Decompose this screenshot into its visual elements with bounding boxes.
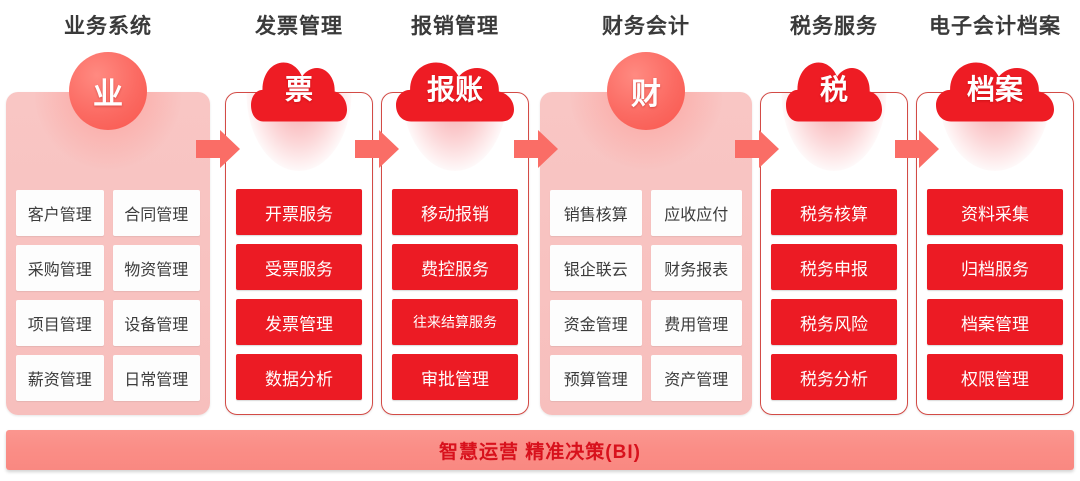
cell-row: 采购管理物资管理 bbox=[16, 245, 200, 291]
cell-row: 权限管理 bbox=[927, 354, 1063, 400]
module-cell[interactable]: 销售核算 bbox=[550, 190, 642, 236]
arrow-tax-to-archive-icon bbox=[895, 129, 939, 169]
arrow-reimburse-to-accounting-icon bbox=[514, 129, 558, 169]
module-cell[interactable]: 资金管理 bbox=[550, 300, 642, 346]
panel-3[interactable]: 移动报销费控服务往来结算服务审批管理 bbox=[381, 92, 529, 415]
module-cell[interactable]: 审批管理 bbox=[392, 354, 518, 400]
module-cell[interactable]: 合同管理 bbox=[113, 190, 201, 236]
bottom-banner-text: 智慧运营 精准决策(BI) bbox=[439, 437, 641, 464]
panel-1[interactable]: 客户管理合同管理采购管理物资管理项目管理设备管理薪资管理日常管理 bbox=[6, 92, 210, 415]
module-cell[interactable]: 开票服务 bbox=[236, 189, 362, 235]
column-title-5: 税务服务 bbox=[760, 10, 908, 40]
module-cell[interactable]: 财务报表 bbox=[651, 245, 743, 291]
column-title-4: 财务会计 bbox=[540, 10, 752, 40]
column-badge-circle-icon: 业 bbox=[69, 52, 147, 130]
column-badge-cloud-icon: 报账 bbox=[396, 56, 514, 128]
cell-row: 预算管理资产管理 bbox=[550, 355, 742, 401]
module-cell[interactable]: 项目管理 bbox=[16, 300, 104, 346]
module-cell[interactable]: 银企联云 bbox=[550, 245, 642, 291]
module-cell[interactable]: 费用管理 bbox=[651, 300, 743, 346]
module-cell[interactable]: 费控服务 bbox=[392, 244, 518, 290]
column-titles-row: 业务系统发票管理报销管理财务会计税务服务电子会计档案 bbox=[0, 0, 1080, 46]
column-title-3: 报销管理 bbox=[381, 10, 529, 40]
module-cell[interactable]: 薪资管理 bbox=[16, 355, 104, 401]
badge-label: 报账 bbox=[427, 76, 483, 108]
column-title-6: 电子会计档案 bbox=[916, 10, 1074, 40]
column-badge-cloud-icon: 档案 bbox=[936, 56, 1054, 128]
column-title-2: 发票管理 bbox=[225, 10, 373, 40]
cell-row: 税务分析 bbox=[771, 354, 897, 400]
panel-4[interactable]: 销售核算应收应付银企联云财务报表资金管理费用管理预算管理资产管理 bbox=[540, 92, 752, 415]
cell-row: 资料采集 bbox=[927, 189, 1063, 235]
module-cell[interactable]: 预算管理 bbox=[550, 355, 642, 401]
cell-grid: 客户管理合同管理采购管理物资管理项目管理设备管理薪资管理日常管理 bbox=[6, 190, 210, 401]
module-cell[interactable]: 受票服务 bbox=[236, 244, 362, 290]
pipeline-columns: 客户管理合同管理采购管理物资管理项目管理设备管理薪资管理日常管理业开票服务受票服… bbox=[0, 46, 1080, 418]
cell-row: 审批管理 bbox=[392, 354, 518, 400]
badge-label: 税 bbox=[820, 76, 848, 108]
cell-row: 客户管理合同管理 bbox=[16, 190, 200, 236]
module-cell[interactable]: 归档服务 bbox=[927, 244, 1063, 290]
module-cell[interactable]: 应收应付 bbox=[651, 190, 743, 236]
arrow-business-to-invoice-icon bbox=[196, 129, 240, 169]
badge-label: 档案 bbox=[967, 76, 1023, 108]
module-cell[interactable]: 采购管理 bbox=[16, 245, 104, 291]
cell-row: 费控服务 bbox=[392, 244, 518, 290]
badge-label: 财 bbox=[631, 69, 661, 113]
badge-label: 业 bbox=[93, 69, 123, 113]
cell-row: 税务风险 bbox=[771, 299, 897, 345]
panel-5[interactable]: 税务核算税务申报税务风险税务分析 bbox=[760, 92, 908, 415]
cell-row: 发票管理 bbox=[236, 299, 362, 345]
panel-2[interactable]: 开票服务受票服务发票管理数据分析 bbox=[225, 92, 373, 415]
module-cell[interactable]: 档案管理 bbox=[927, 299, 1063, 345]
module-cell[interactable]: 税务核算 bbox=[771, 189, 897, 235]
arrow-accounting-to-tax-icon bbox=[735, 129, 779, 169]
column-badge-cloud-icon: 税 bbox=[786, 56, 882, 128]
module-cell[interactable]: 往来结算服务 bbox=[392, 299, 518, 345]
cell-row: 销售核算应收应付 bbox=[550, 190, 742, 236]
module-cell[interactable]: 税务风险 bbox=[771, 299, 897, 345]
cell-row: 开票服务 bbox=[236, 189, 362, 235]
cell-row: 项目管理设备管理 bbox=[16, 300, 200, 346]
bottom-banner: 智慧运营 精准决策(BI) bbox=[6, 430, 1074, 470]
module-cell[interactable]: 客户管理 bbox=[16, 190, 104, 236]
column-badge-circle-icon: 财 bbox=[607, 52, 685, 130]
module-cell[interactable]: 设备管理 bbox=[113, 300, 201, 346]
module-cell[interactable]: 税务申报 bbox=[771, 244, 897, 290]
module-cell[interactable]: 物资管理 bbox=[113, 245, 201, 291]
cell-row: 税务核算 bbox=[771, 189, 897, 235]
cell-grid: 移动报销费控服务往来结算服务审批管理 bbox=[382, 189, 528, 400]
badge-label: 票 bbox=[285, 76, 313, 108]
cell-row: 移动报销 bbox=[392, 189, 518, 235]
cell-grid: 销售核算应收应付银企联云财务报表资金管理费用管理预算管理资产管理 bbox=[540, 190, 752, 401]
panel-6[interactable]: 资料采集归档服务档案管理权限管理 bbox=[916, 92, 1074, 415]
cell-grid: 开票服务受票服务发票管理数据分析 bbox=[226, 189, 372, 400]
module-cell[interactable]: 日常管理 bbox=[113, 355, 201, 401]
module-cell[interactable]: 资料采集 bbox=[927, 189, 1063, 235]
cell-grid: 资料采集归档服务档案管理权限管理 bbox=[917, 189, 1073, 400]
cell-grid: 税务核算税务申报税务风险税务分析 bbox=[761, 189, 907, 400]
module-cell[interactable]: 移动报销 bbox=[392, 189, 518, 235]
module-cell[interactable]: 发票管理 bbox=[236, 299, 362, 345]
cell-row: 数据分析 bbox=[236, 354, 362, 400]
module-cell[interactable]: 权限管理 bbox=[927, 354, 1063, 400]
arrow-invoice-to-reimburse-icon bbox=[355, 129, 399, 169]
column-badge-cloud-icon: 票 bbox=[251, 56, 347, 128]
cell-row: 往来结算服务 bbox=[392, 299, 518, 345]
cell-row: 受票服务 bbox=[236, 244, 362, 290]
column-title-1: 业务系统 bbox=[6, 10, 210, 40]
cell-row: 资金管理费用管理 bbox=[550, 300, 742, 346]
module-cell[interactable]: 数据分析 bbox=[236, 354, 362, 400]
module-cell[interactable]: 资产管理 bbox=[651, 355, 743, 401]
cell-row: 银企联云财务报表 bbox=[550, 245, 742, 291]
cell-row: 归档服务 bbox=[927, 244, 1063, 290]
cell-row: 薪资管理日常管理 bbox=[16, 355, 200, 401]
cell-row: 税务申报 bbox=[771, 244, 897, 290]
cell-row: 档案管理 bbox=[927, 299, 1063, 345]
module-cell[interactable]: 税务分析 bbox=[771, 354, 897, 400]
